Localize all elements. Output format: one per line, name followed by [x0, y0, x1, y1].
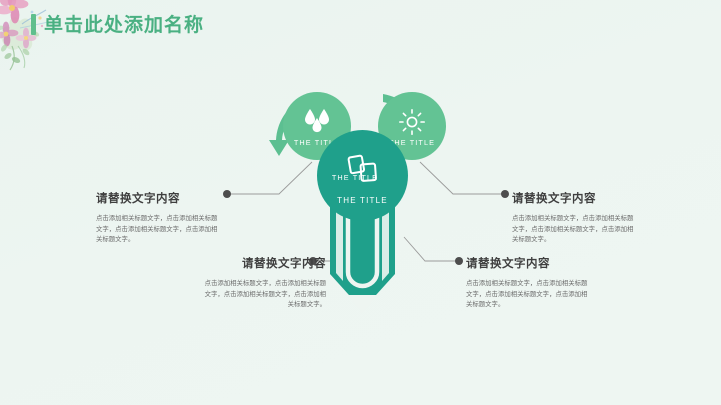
connector-dot-left: [223, 190, 231, 198]
text-block-left-heading: 请替换文字内容: [96, 190, 220, 206]
text-block-left-body: 点击添加相关标题文字，点击添加相关标题文字，点击添加相关标题文字，点击添加相关标…: [96, 213, 220, 245]
node-pages-label: THE TITLE: [337, 196, 388, 205]
sun-icon: [378, 109, 446, 135]
text-block-right-heading: 请替换文字内容: [512, 190, 636, 206]
text-block-bottom-right-heading: 请替换文字内容: [466, 255, 590, 271]
slide-canvas: 单击此处添加名称 THE TITLE: [0, 0, 721, 405]
text-block-bottom-left: 请替换文字内容 点击添加相关标题文字，点击添加相关标题文字，点击添加相关标题文字…: [202, 255, 326, 310]
text-block-bottom-left-body: 点击添加相关标题文字，点击添加相关标题文字，点击添加相关标题文字，点击添加相关标…: [202, 278, 326, 310]
pencil-label: THE TITLE: [255, 173, 455, 182]
water-drops-icon: [283, 109, 351, 133]
text-block-bottom-right-body: 点击添加相关标题文字，点击添加相关标题文字，点击添加相关标题文字，点击添加相关标…: [466, 278, 590, 310]
text-block-right-body: 点击添加相关标题文字，点击添加相关标题文字，点击添加相关标题文字，点击添加相关标…: [512, 213, 636, 245]
text-block-bottom-left-heading: 请替换文字内容: [202, 255, 326, 271]
text-block-right: 请替换文字内容 点击添加相关标题文字，点击添加相关标题文字，点击添加相关标题文字…: [512, 190, 636, 245]
text-block-bottom-right: 请替换文字内容 点击添加相关标题文字，点击添加相关标题文字，点击添加相关标题文字…: [466, 255, 590, 310]
text-block-left: 请替换文字内容 点击添加相关标题文字，点击添加相关标题文字，点击添加相关标题文字…: [96, 190, 220, 245]
connector-dot-bottom-right: [455, 257, 463, 265]
connector-dot-right: [501, 190, 509, 198]
